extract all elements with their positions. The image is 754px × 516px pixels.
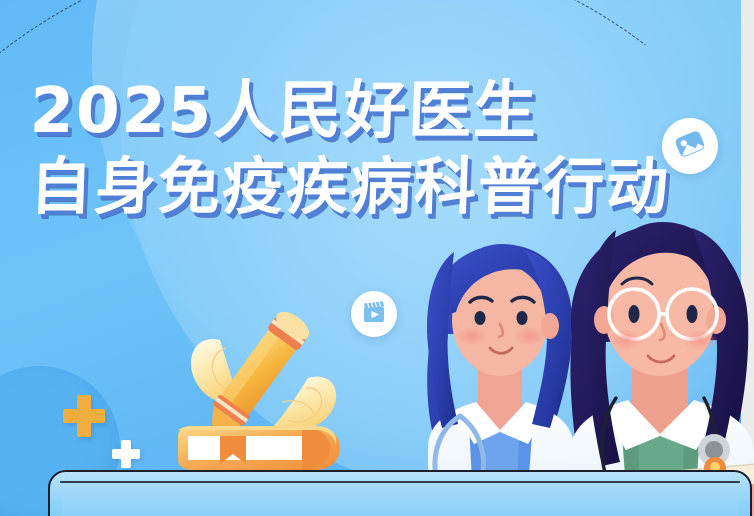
plus-icon-gold <box>63 395 105 437</box>
video-clapperboard-icon <box>360 298 388 331</box>
book-icon <box>178 426 340 470</box>
image-icon <box>673 127 707 166</box>
poster-banner: 2025人民好医生 自身免疫疾病科普行动 <box>0 0 754 516</box>
bottom-device-panel <box>48 470 752 516</box>
video-badge[interactable] <box>351 291 397 337</box>
plus-icon-white <box>112 440 140 468</box>
page-title: 2025人民好医生 自身免疫疾病科普行动 <box>30 78 670 219</box>
title-line-1: 2025人民好医生 <box>29 78 671 145</box>
winged-pencil-and-book-illustration <box>168 312 348 490</box>
bottom-panel-inner <box>62 486 738 516</box>
title-line-2: 自身免疫疾病科普行动 <box>29 154 671 220</box>
photo-badge[interactable] <box>662 118 718 174</box>
